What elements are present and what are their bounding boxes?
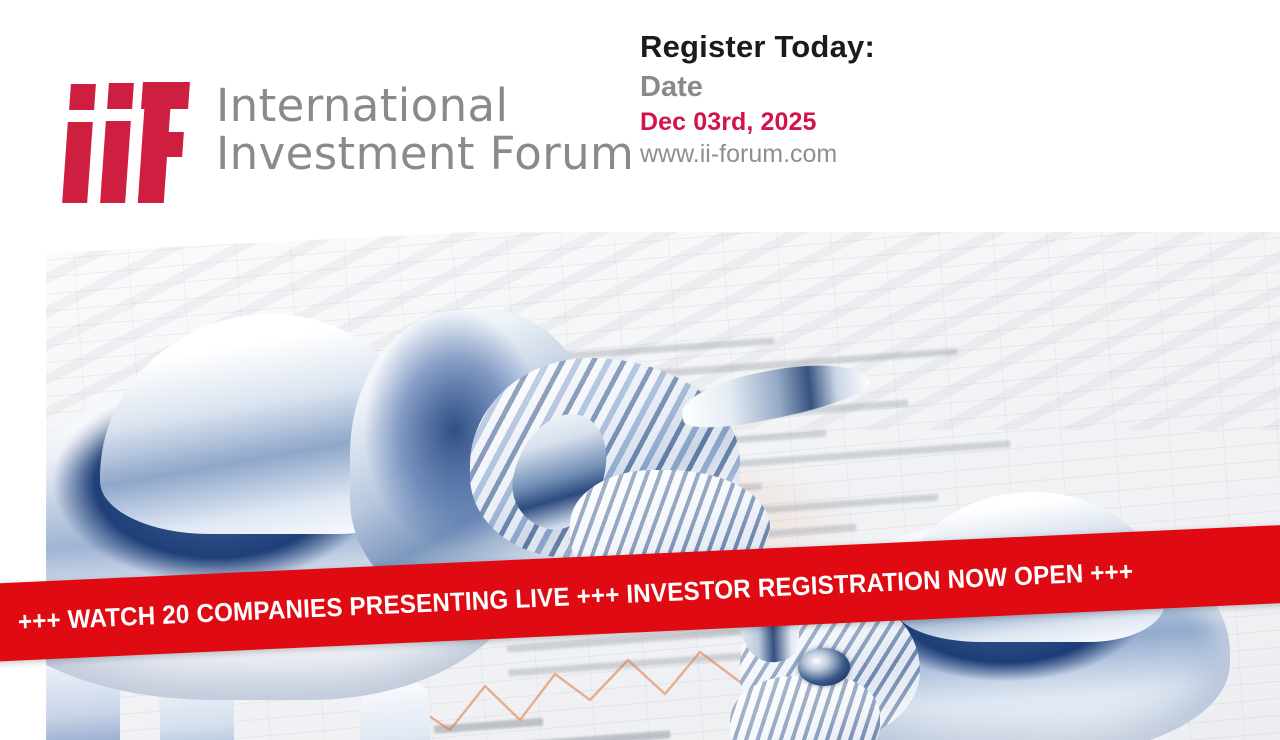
register-info-block: Register Today: Date Dec 03rd, 2025 www.… bbox=[640, 30, 875, 169]
logo-name-line2: Investment Forum bbox=[216, 130, 634, 178]
iif-logo-mark-icon bbox=[62, 78, 192, 203]
iif-logo[interactable]: International Investment Forum bbox=[62, 78, 634, 203]
promo-banner-stage: International Investment Forum Register … bbox=[0, 0, 1280, 740]
register-today-heading: Register Today: bbox=[640, 30, 875, 64]
website-url[interactable]: www.ii-forum.com bbox=[640, 139, 875, 169]
event-date-value: Dec 03rd, 2025 bbox=[640, 107, 875, 137]
date-label: Date bbox=[640, 70, 875, 104]
header-band: International Investment Forum Register … bbox=[0, 0, 1280, 232]
logo-name-line1: International bbox=[216, 79, 508, 132]
iif-logo-wordmark: International Investment Forum bbox=[216, 82, 634, 178]
bull-sculpture-large bbox=[0, 240, 810, 740]
